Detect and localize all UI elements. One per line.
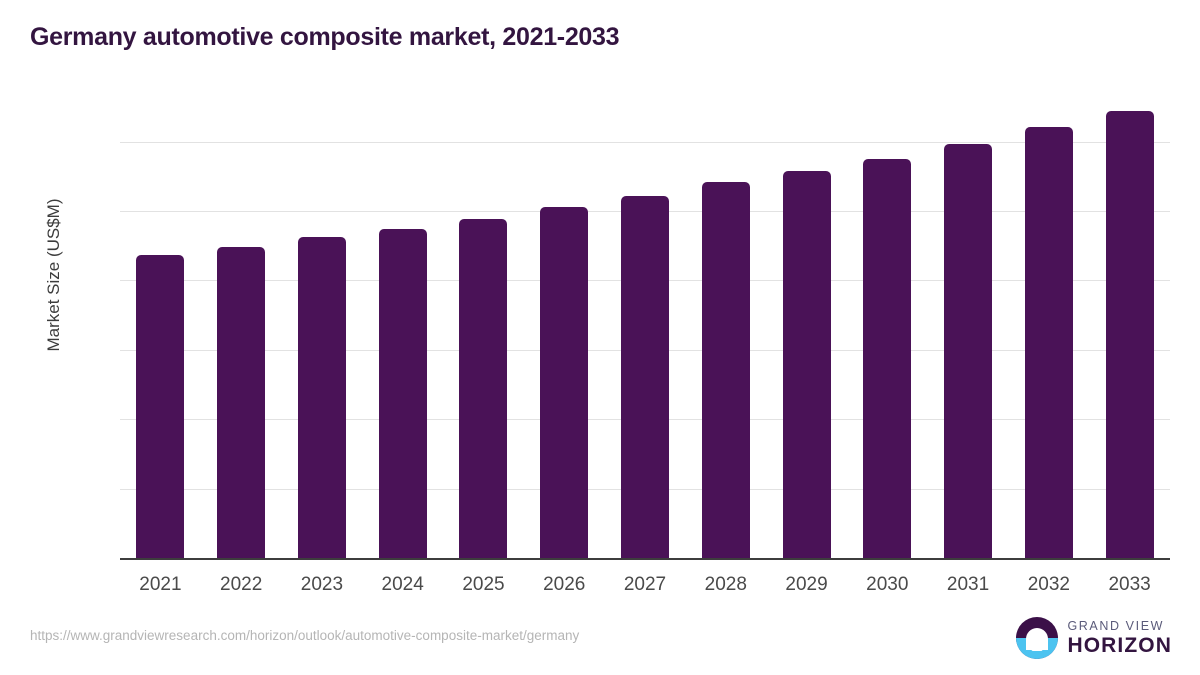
chart-page: Germany automotive composite market, 202… [0,0,1200,675]
x-axis-tick-label-2027: 2027 [600,574,690,596]
bars-group [120,100,1170,558]
bar-2023[interactable] [298,237,346,558]
x-axis-tick-label-2024: 2024 [358,574,448,596]
x-axis-tick-label-2022: 2022 [196,574,286,596]
x-axis-tick-label-2029: 2029 [762,574,852,596]
y-axis-title: Market Size (US$M) [44,175,64,375]
x-axis-tick-label-2026: 2026 [519,574,609,596]
x-axis-tick-label-2033: 2033 [1085,574,1175,596]
logo-line-lower [1032,648,1043,651]
logo-dome-shape [1026,628,1048,650]
logo-wordmark: GRAND VIEW HORIZON [1067,620,1172,657]
bar-2025[interactable] [459,219,507,558]
bar-2029[interactable] [783,171,831,558]
x-axis-tick-label-2021: 2021 [115,574,205,596]
bar-2028[interactable] [702,182,750,558]
horizon-logo-icon [1016,617,1058,659]
plot-area: 0250500750100012501500 20212022202320242… [120,100,1170,558]
x-axis-tick-label-2032: 2032 [1004,574,1094,596]
bar-2030[interactable] [863,159,911,558]
bar-2021[interactable] [136,255,184,558]
bar-2024[interactable] [379,229,427,558]
x-axis-tick-label-2023: 2023 [277,574,367,596]
x-axis-tick-label-2031: 2031 [923,574,1013,596]
chart-canvas: Market Size (US$M) 025050075010001250150… [0,0,1200,675]
logo-text-horizon: HORIZON [1067,635,1172,656]
x-axis-tick-label-2028: 2028 [681,574,771,596]
logo-text-grand-view: GRAND VIEW [1067,620,1172,633]
source-url[interactable]: https://www.grandviewresearch.com/horizo… [30,628,579,643]
x-axis-tick-label-2025: 2025 [438,574,528,596]
bar-2033[interactable] [1106,111,1154,558]
x-axis-tick-label-2030: 2030 [842,574,932,596]
x-axis-line [120,558,1170,560]
logo-line-upper [1028,643,1046,646]
bar-2026[interactable] [540,207,588,558]
bar-2027[interactable] [621,196,669,559]
brand-logo[interactable]: GRAND VIEW HORIZON [1016,617,1172,659]
bar-2031[interactable] [944,144,992,558]
bar-2032[interactable] [1025,127,1073,558]
bar-2022[interactable] [217,247,265,558]
